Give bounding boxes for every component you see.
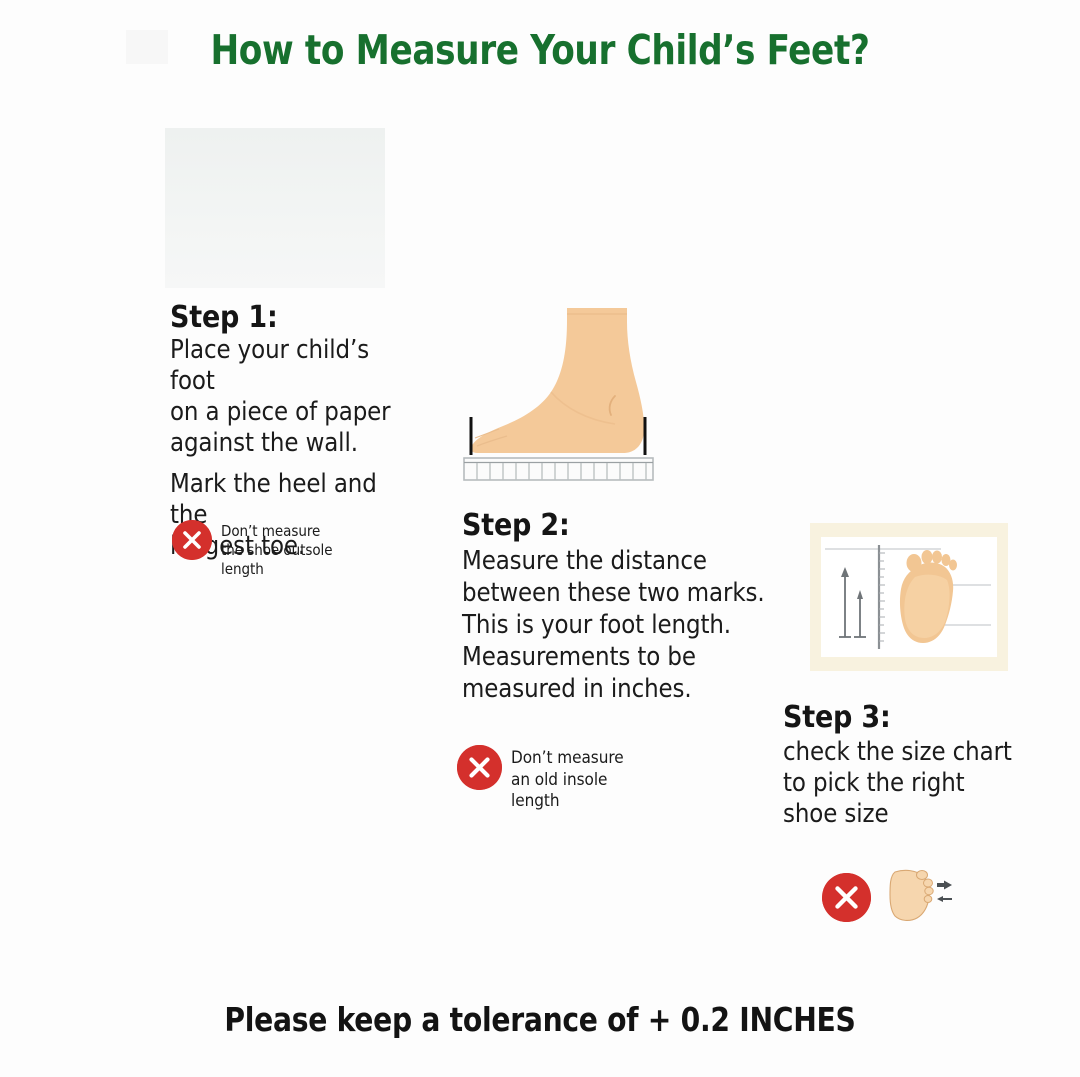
step-1-warning-line-2: the shoe outsole (221, 541, 333, 560)
step-2-line-3: This is your foot length. (462, 609, 782, 641)
step-2-heading: Step 2: (462, 508, 570, 543)
step-2-warning-line-3: length (511, 791, 624, 813)
step-2-warning-text: Don’t measure an old insole length (511, 745, 624, 813)
step-1-illustration-panel (165, 128, 385, 288)
step-2-warning-line-2: an old insole (511, 770, 624, 792)
foot-on-ruler-illustration (455, 300, 685, 485)
step-2-body: Measure the distance between these two m… (462, 545, 782, 705)
step-1-line-1: Place your child’s foot (170, 335, 420, 397)
step-1-warning: Don’t measure the shoe outsole length (172, 520, 333, 579)
red-cross-circle-icon (172, 520, 212, 560)
step-1-line-2: on a piece of paper (170, 397, 420, 428)
step-2-line-5: measured in inches. (462, 673, 782, 705)
size-chart-card (821, 537, 997, 657)
foot-size-chart-illustration (821, 537, 997, 657)
step-2-line-4: Measurements to be (462, 641, 782, 673)
step-3-warning (822, 862, 953, 933)
step-1-warning-line-3: length (221, 560, 333, 579)
page-title: How to Measure Your Child’s Feet? (38, 26, 1042, 74)
step-1-warning-line-1: Don’t measure (221, 522, 333, 541)
step-2-line-2: between these two marks. (462, 577, 782, 609)
tolerance-note: Please keep a tolerance of + 0.2 INCHES (27, 1000, 1053, 1039)
step-3-body: check the size chart to pick the right s… (783, 737, 1018, 830)
step-3-heading: Step 3: (783, 700, 891, 735)
step-3-illustration-panel (810, 523, 1008, 671)
step-1-warning-text: Don’t measure the shoe outsole length (221, 520, 333, 579)
step-1-heading: Step 1: (170, 300, 278, 335)
squeezed-foot-icon (883, 862, 953, 933)
step-1-line-3: against the wall. (170, 428, 420, 459)
red-cross-circle-icon (822, 873, 871, 922)
step-3-line-1: check the size chart (783, 737, 1018, 768)
panel-gradient (165, 128, 385, 288)
step-2-illustration-panel (455, 300, 685, 485)
step-3-line-2: to pick the right (783, 768, 1018, 799)
step-2-line-1: Measure the distance (462, 545, 782, 577)
infographic-page: How to Measure Your Child’s Feet? Step 1… (0, 0, 1080, 1077)
step-3-line-3: shoe size (783, 799, 1018, 830)
step-2-warning: Don’t measure an old insole length (457, 745, 624, 813)
red-cross-circle-icon (457, 745, 502, 790)
step-2-warning-line-1: Don’t measure (511, 748, 624, 770)
